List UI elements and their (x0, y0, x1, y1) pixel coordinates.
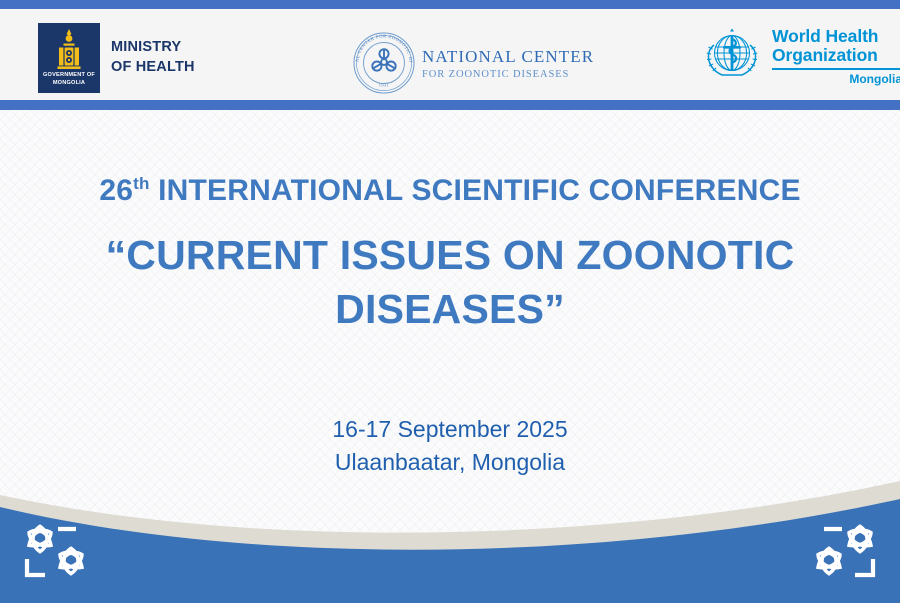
national-center-title: NATIONAL CENTER (422, 47, 594, 67)
mongolian-knot-ornament-left-icon (14, 517, 106, 589)
conference-ordinal-suffix: th (133, 174, 149, 193)
title-block: 26th INTERNATIONAL SCIENTIFIC CONFERENCE… (0, 110, 900, 336)
event-details: 16-17 September 2025 Ulaanbaatar, Mongol… (0, 413, 900, 478)
national-center-zoonotic-diseases-logo: NATIONAL CENTER FOR ZOONOTIC DISEASES 19… (352, 31, 594, 95)
top-accent-bar (0, 0, 900, 9)
event-dates: 16-17 September 2025 (0, 413, 900, 446)
conference-line-text: INTERNATIONAL SCIENTIFIC CONFERENCE (150, 174, 801, 207)
biohazard-seal-icon: NATIONAL CENTER FOR ZOONOTIC DISEASES 19… (352, 31, 416, 95)
svg-text:1931: 1931 (379, 83, 389, 88)
who-name-line-2: Organization (772, 46, 900, 65)
logo-header: GOVERNMENT OF MONGOLIA MINISTRY OF HEALT… (0, 9, 900, 100)
conference-edition-line: 26th INTERNATIONAL SCIENTIFIC CONFERENCE (0, 174, 900, 208)
header-separator-bar (0, 100, 900, 110)
page-title: “CURRENT ISSUES ON ZOONOTIC DISEASES” (0, 228, 900, 336)
mongolian-knot-ornament-right-icon (794, 517, 886, 589)
who-wordmark: World Health Organization Mongolia (772, 27, 900, 86)
emblem-caption-line-1: GOVERNMENT OF (38, 72, 100, 78)
ministry-of-health-logo: GOVERNMENT OF MONGOLIA MINISTRY OF HEALT… (38, 23, 195, 93)
who-name-line-1: World Health (772, 27, 900, 46)
ministry-of-health-name: MINISTRY OF HEALTH (111, 38, 195, 77)
soyombo-symbol-icon (38, 27, 100, 73)
who-emblem-icon (700, 27, 764, 85)
ministry-name-line-2: OF HEALTH (111, 58, 195, 78)
conference-title-slide: GOVERNMENT OF MONGOLIA MINISTRY OF HEALT… (0, 0, 900, 603)
mongolia-government-emblem: GOVERNMENT OF MONGOLIA (38, 23, 100, 93)
who-divider-rule (772, 68, 900, 70)
conference-number: 26 (99, 174, 133, 207)
ministry-name-line-1: MINISTRY (111, 38, 195, 58)
national-center-wordmark: NATIONAL CENTER FOR ZOONOTIC DISEASES (422, 47, 594, 80)
emblem-caption-line-2: MONGOLIA (38, 80, 100, 86)
who-mongolia-logo: World Health Organization Mongolia (700, 27, 900, 86)
bottom-wave-band (0, 473, 900, 603)
who-country-label: Mongolia (772, 72, 900, 86)
national-center-subtitle: FOR ZOONOTIC DISEASES (422, 69, 594, 80)
